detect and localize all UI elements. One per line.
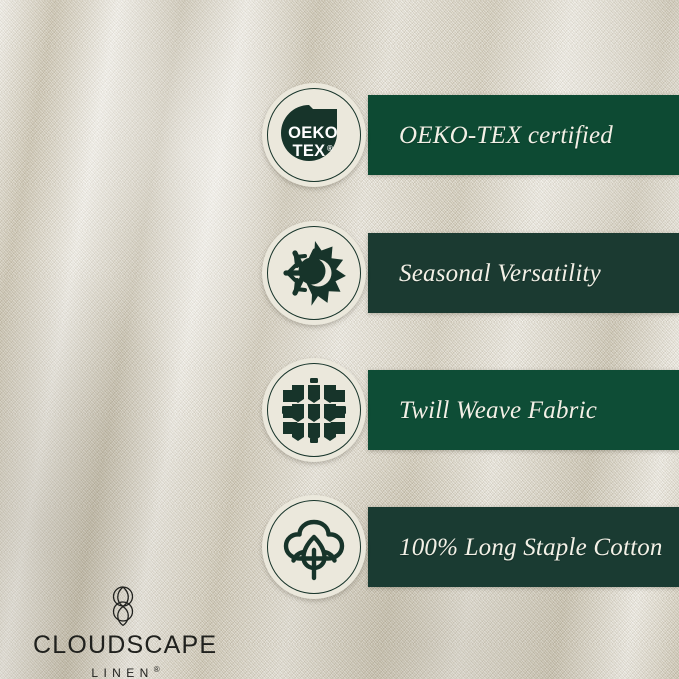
brand-subtitle-text: LINEN bbox=[91, 666, 153, 679]
feature-banner: Seasonal Versatility bbox=[368, 233, 679, 313]
feature-row-long-staple-cotton: 100% Long Staple Cotton bbox=[262, 495, 679, 599]
brand-subtitle: LINEN® bbox=[33, 666, 213, 679]
feature-row-twill-weave: Twill Weave Fabric bbox=[262, 358, 679, 462]
svg-text:TEX: TEX bbox=[293, 142, 326, 160]
feature-label: OEKO-TEX certified bbox=[368, 123, 613, 148]
feature-banner: OEKO-TEX certified bbox=[368, 95, 679, 175]
badge-oeko-tex: OEKO TEX ® bbox=[262, 83, 366, 187]
svg-text:OEKO: OEKO bbox=[288, 124, 338, 142]
oeko-tex-droplet-icon: OEKO TEX ® bbox=[262, 83, 366, 187]
badge-seasonal-versatility bbox=[262, 221, 366, 325]
feature-row-seasonal-versatility: Seasonal Versatility bbox=[262, 221, 679, 325]
feature-banner: 100% Long Staple Cotton bbox=[368, 507, 679, 587]
product-feature-graphic: OEKO-TEX certified OEKO TEX ® Seasonal V… bbox=[0, 0, 679, 679]
brand-logo: CLOUDSCAPE LINEN® bbox=[33, 582, 213, 679]
feature-row-oeko-tex: OEKO-TEX certified OEKO TEX ® bbox=[262, 83, 679, 187]
infinity-loop-mark bbox=[103, 582, 143, 626]
brand-name: CLOUDSCAPE bbox=[33, 633, 213, 658]
svg-text:®: ® bbox=[327, 144, 333, 153]
snowflake-sun-icon bbox=[262, 221, 366, 325]
feature-banner: Twill Weave Fabric bbox=[368, 370, 679, 450]
feature-label: Seasonal Versatility bbox=[368, 261, 601, 286]
feature-label: 100% Long Staple Cotton bbox=[368, 535, 663, 560]
badge-long-staple-cotton bbox=[262, 495, 366, 599]
weave-lattice-icon bbox=[262, 358, 366, 462]
badge-twill-weave bbox=[262, 358, 366, 462]
feature-label: Twill Weave Fabric bbox=[368, 398, 597, 423]
registered-trademark-mark: ® bbox=[154, 665, 160, 674]
cotton-boll-icon bbox=[262, 495, 366, 599]
